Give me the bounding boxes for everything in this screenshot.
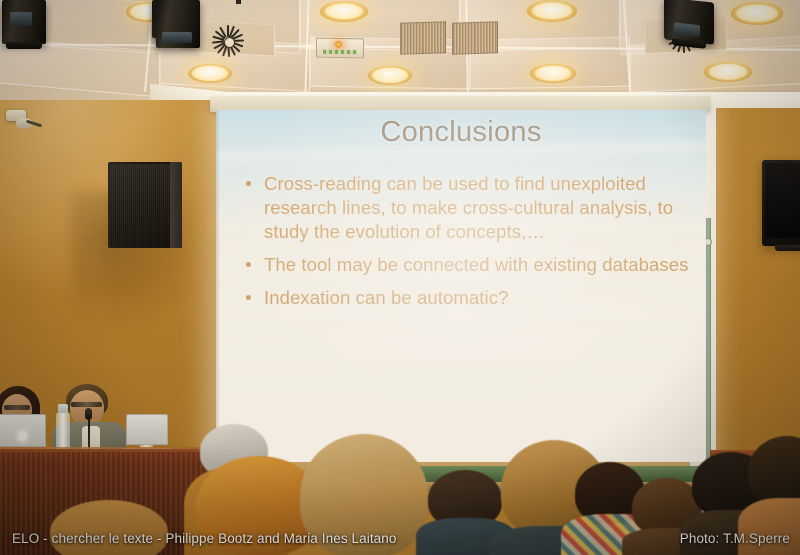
screen-left-edge	[216, 110, 220, 462]
caption-right: Photo: T.M.Sperre	[680, 531, 790, 546]
slide-bullet-text: Cross-reading can be used to find unexpl…	[264, 173, 673, 242]
emergency-light-panel	[316, 38, 364, 59]
wall-monitor-right	[762, 160, 800, 246]
ceiling-downlight	[368, 66, 412, 85]
ceiling-vent-grill	[452, 21, 498, 55]
slide-bullet-text: Indexation can be automatic?	[264, 287, 509, 308]
ceiling-downlight	[731, 2, 783, 25]
conference-photo: Conclusions Cross-reading can be used to…	[0, 0, 800, 555]
slide-bullet-text: The tool may be connected with existing …	[264, 254, 688, 275]
audience-member	[50, 500, 170, 555]
ceiling-downlight	[530, 64, 576, 83]
projection-screen: Conclusions Cross-reading can be used to…	[216, 110, 706, 462]
hanging-projector-center	[156, 0, 200, 48]
audience-hair	[50, 500, 168, 555]
bullet-dot-icon	[246, 181, 251, 186]
slide-bullet-item: Cross-reading can be used to find unexpl…	[240, 172, 692, 244]
presenter-right-glasses-icon	[71, 402, 102, 407]
apple-logo-icon	[18, 431, 27, 441]
hanging-projector-left	[2, 0, 46, 44]
caption-left: ELO - chercher le texte - Philippe Bootz…	[12, 531, 397, 546]
door-edge-strip	[706, 218, 711, 468]
slide-bullet-list: Cross-reading can be used to find unexpl…	[240, 172, 692, 319]
ceiling-downlight	[188, 64, 232, 83]
ceiling-downlight	[704, 62, 752, 82]
ceiling-vent-grill	[400, 21, 446, 55]
presenter-left-glasses-icon	[4, 405, 30, 410]
wall-speaker-left	[108, 162, 182, 248]
ceiling-downlight	[320, 1, 368, 22]
bullet-dot-icon	[246, 295, 251, 300]
slide-bullet-item: Indexation can be automatic?	[240, 286, 692, 310]
projector-foot	[6, 42, 42, 49]
water-bottle-cap	[58, 404, 68, 413]
slide-bullet-item: The tool may be connected with existing …	[240, 253, 692, 277]
audience-body	[738, 498, 800, 555]
bullet-dot-icon	[246, 262, 251, 267]
microphone-head	[85, 408, 92, 420]
presentation-slide: Conclusions Cross-reading can be used to…	[216, 110, 706, 462]
ceiling-downlight	[527, 0, 577, 22]
